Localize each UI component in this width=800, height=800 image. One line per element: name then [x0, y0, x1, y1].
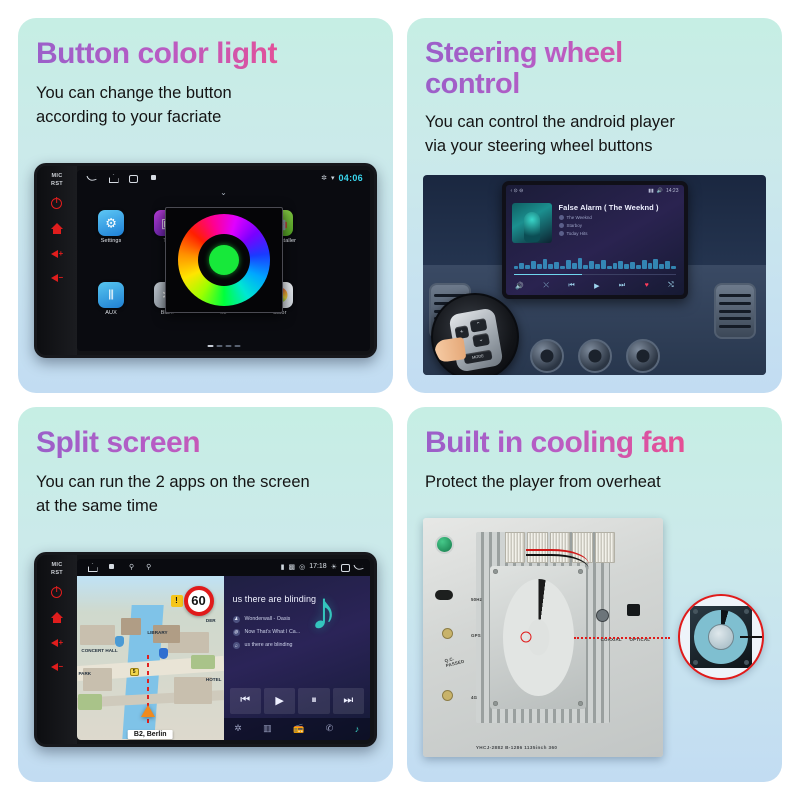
fan-mount-plate — [490, 566, 586, 709]
navigation-icons — [87, 173, 159, 182]
artist-icon: ♟ — [233, 616, 240, 623]
app-spacer — [308, 263, 364, 335]
card-media: MIC RST + − — [34, 140, 377, 381]
gps-connector — [442, 628, 453, 639]
car-interior-photo: ‹ ⊙ ⊖ ▮▮ 🔊 14:23 False Alarm ( The Weekn… — [423, 175, 766, 375]
album-row: Starboy — [559, 223, 678, 228]
map-green-area — [78, 694, 101, 710]
volume-icon: 🔊 — [657, 188, 663, 194]
progress-bar[interactable] — [514, 274, 676, 276]
track-meta: ♟ Wonderwall - Oasis ◍ Now That's What I… — [233, 616, 301, 649]
fan-grill — [503, 579, 574, 696]
track-title: False Alarm ( The Weeknd ) — [559, 203, 678, 212]
artist-name: Wonderwall - Oasis — [245, 616, 291, 622]
card-title: Split screen — [36, 427, 377, 459]
color-wheel[interactable] — [178, 214, 270, 306]
cooling-fan — [690, 606, 752, 668]
clock: 14:23 — [666, 188, 679, 194]
card-media: 50Hz GPS Q.C. PASSED 4G COAXIAL OPTICAL — [423, 505, 766, 770]
play-icon[interactable]: ▶ — [264, 688, 295, 714]
phone-icon[interactable]: ✆ — [326, 723, 334, 734]
bezel-key-group: + − — [51, 198, 63, 283]
home-icon[interactable] — [108, 173, 117, 182]
optical-port — [627, 604, 640, 616]
down-button[interactable]: ⌄ — [472, 333, 490, 348]
playlist-row: ♫ us there are blinding — [233, 642, 301, 649]
track-meta: False Alarm ( The Weeknd ) The Weeknd St… — [559, 203, 678, 243]
split-screen-container: CONCERT HALL LIBRARY PARK HOTEL DER 5 ! — [77, 576, 370, 740]
playlist-row: Today Hits — [559, 231, 678, 236]
signal-icon: ▮▮ — [648, 188, 654, 194]
radio-icon[interactable]: 📻 — [293, 723, 304, 734]
fan-knob[interactable] — [530, 339, 564, 373]
map-label-concert-hall: CONCERT HALL — [81, 648, 117, 653]
speed-limit-sign: 60 — [184, 586, 214, 616]
aux-icon: ⦀ — [108, 288, 114, 301]
air-vent-right — [714, 283, 756, 339]
next-icon[interactable]: ⏭ — [619, 282, 625, 290]
previous-icon[interactable]: ⏮ — [568, 282, 574, 290]
transport-controls: ⏮ ▶ ⏸ ⏭ — [230, 688, 365, 714]
signal-icon: ▮ — [281, 563, 285, 571]
bezel-key-group: + − — [51, 587, 63, 672]
home-icon[interactable] — [51, 223, 63, 235]
temperature-knob[interactable] — [578, 339, 612, 373]
lte-connector — [442, 690, 453, 701]
pcb-label-4g: 4G — [471, 695, 477, 700]
equalizer-icon[interactable]: ▥ — [263, 723, 272, 734]
card-subtitle: You can run the 2 apps on the screen at … — [36, 471, 377, 519]
pcb-label-50hz: 50Hz — [471, 597, 482, 602]
chevron-down-icon[interactable]: ⌄ — [220, 188, 227, 197]
volume-icon[interactable]: 🔊 — [515, 282, 524, 290]
callout-connector-line — [574, 637, 670, 639]
apps-icon[interactable] — [108, 562, 117, 571]
feature-card-button-color-light: Button color light You can change the bu… — [18, 18, 393, 393]
map-label-der: DER — [206, 618, 216, 623]
card-media: MIC RST + − ⚲ ⚲ — [34, 529, 377, 770]
power-icon[interactable] — [51, 587, 63, 599]
home-icon[interactable] — [87, 562, 96, 571]
playlist-icon — [559, 231, 564, 236]
pause-icon[interactable]: ⏸ — [298, 688, 329, 714]
playlist-name: us there are blinding — [245, 642, 293, 648]
status-indicators: ✲ ▾ 04:06 — [321, 173, 363, 183]
brightness-icon[interactable]: ☀ — [331, 563, 337, 571]
callout-origin-marker — [521, 632, 532, 643]
map-label-library: LIBRARY — [147, 630, 167, 635]
volume-down-icon[interactable]: − — [51, 272, 63, 283]
route-badge: 5 — [130, 668, 139, 676]
artist-name: The Weeknd — [567, 215, 592, 220]
music-player-pane[interactable]: ♪ us there are blinding ♟ Wonderwall - O… — [224, 576, 371, 740]
head-unit-screen: ⚲ ⚲ ▮ ▩ ◎ 17:18 ☀ — [77, 559, 370, 740]
location-icon[interactable]: ⚲ — [129, 563, 134, 571]
artist-row: The Weeknd — [559, 215, 678, 220]
artist-icon — [559, 215, 564, 220]
mode-knob[interactable] — [626, 339, 660, 373]
feature-card-steering-wheel-control: Steering wheel control You can control t… — [407, 18, 782, 393]
audio-waveform — [514, 257, 676, 269]
feature-card-built-in-cooling-fan: Built in cooling fan Protect the player … — [407, 407, 782, 782]
feature-card-split-screen: Split screen You can run the 2 apps on t… — [18, 407, 393, 782]
map-building — [121, 618, 142, 634]
device-bezel: MIC RST + − — [37, 166, 77, 355]
clock: 04:06 — [338, 173, 363, 183]
next-icon[interactable]: ⏭ — [333, 688, 364, 714]
navigation-map-pane[interactable]: CONCERT HALL LIBRARY PARK HOTEL DER 5 ! — [77, 576, 224, 740]
location-icon[interactable]: ⚲ — [146, 563, 151, 571]
status-bar: ⚲ ⚲ ▮ ▩ ◎ 17:18 ☀ — [77, 559, 370, 575]
bluetooth-icon: ✲ — [321, 174, 327, 182]
gps-icon: ◎ — [299, 563, 305, 571]
head-unit-device: MIC RST + − — [34, 163, 377, 358]
card-subtitle: Protect the player from overheat — [425, 471, 766, 495]
antenna-jack-green — [435, 535, 454, 554]
bluetooth-icon[interactable]: ✲ — [234, 723, 242, 734]
card-title: Button color light — [36, 38, 377, 70]
source-tab-bar: ✲ ▥ 📻 ✆ ♪ — [224, 718, 371, 740]
volume-up-icon[interactable]: + — [51, 248, 63, 259]
page-indicator — [207, 345, 240, 347]
map-label-hotel: HOTEL — [206, 677, 222, 682]
home-icon[interactable] — [51, 612, 63, 624]
status-bar: ✲ ▾ 04:06 — [77, 170, 370, 186]
card-subtitle: You can control the android player via y… — [425, 111, 766, 159]
apps-icon[interactable] — [150, 173, 159, 182]
serial-number: YHCJ-2882 B-1286 1135inch 360 — [476, 745, 558, 750]
previous-icon[interactable]: ⏮ — [230, 688, 261, 714]
volume-up-icon[interactable]: + — [51, 637, 63, 648]
head-unit-device: MIC RST + − ⚲ ⚲ — [34, 552, 377, 747]
repeat-icon[interactable]: ⤭ — [668, 282, 674, 290]
map-green-area — [191, 655, 214, 670]
playlist-name: Today Hits — [567, 231, 588, 236]
hvac-controls — [530, 339, 660, 373]
card-title: Steering wheel control — [425, 38, 766, 99]
color-wheel-dialog[interactable] — [165, 207, 283, 313]
bezel-label-mic: MIC — [52, 561, 63, 570]
card-title: Built in cooling fan — [425, 427, 766, 459]
player-body: False Alarm ( The Weeknd ) The Weeknd St… — [506, 196, 684, 243]
status-indicators: ▮ ▩ ◎ 17:18 ☀ — [281, 562, 363, 571]
player-status-bar: ‹ ⊙ ⊖ ▮▮ 🔊 14:23 — [506, 185, 684, 196]
fan-closeup-callout — [678, 594, 764, 680]
coaxial-port — [596, 609, 609, 622]
favorite-icon[interactable]: ♥ — [645, 282, 649, 289]
warning-icon: ! — [171, 595, 183, 607]
antenna-connector — [435, 590, 453, 600]
album-icon: ◍ — [233, 629, 240, 636]
app-settings[interactable]: ⚙ Settings — [83, 191, 139, 263]
artist-row: ♟ Wonderwall - Oasis — [233, 616, 301, 623]
playlist-icon: ♫ — [233, 642, 240, 649]
map-label-park: PARK — [78, 671, 91, 676]
sim-icon: ▩ — [288, 563, 295, 571]
bezel-label-rst: RST — [51, 180, 63, 189]
volume-down-icon[interactable]: − — [51, 661, 63, 672]
back-icon[interactable] — [87, 173, 96, 182]
album-icon — [559, 223, 564, 228]
album-row: ◍ Now That's What I Ca... — [233, 629, 301, 636]
recents-icon[interactable] — [129, 173, 138, 182]
pcb-label-qc-passed: Q.C. PASSED — [444, 654, 465, 668]
up-button[interactable]: ⌃ — [470, 318, 488, 333]
card-media: ‹ ⊙ ⊖ ▮▮ 🔊 14:23 False Alarm ( The Weekn… — [423, 169, 766, 381]
music-icon[interactable]: ♪ — [355, 724, 360, 734]
fan-lead-wire — [740, 636, 762, 638]
app-label: Settings — [101, 238, 122, 244]
player-controls: 🔊 ⤬ ⏮ ▶ ⏭ ♥ ⤭ — [506, 278, 684, 293]
back-icon[interactable] — [354, 562, 363, 571]
player-nav-icons: ‹ ⊙ ⊖ — [511, 188, 524, 194]
clock: 17:18 — [309, 563, 327, 570]
pcb-label-gps: GPS — [471, 633, 481, 638]
device-bezel: MIC RST + − — [37, 555, 77, 744]
head-unit-screen: ✲ ▾ 04:06 ⌄ ⚙ Settings ▣ T... — [77, 170, 370, 351]
navigation-icons: ⚲ ⚲ — [87, 562, 151, 571]
vehicle-position-arrow — [141, 705, 155, 717]
feature-grid: Button color light You can change the bu… — [0, 0, 800, 800]
current-street-label: B2, Berlin — [128, 730, 173, 739]
bezel-label-rst: RST — [51, 569, 63, 578]
map-block — [80, 625, 115, 645]
head-unit-screen: ‹ ⊙ ⊖ ▮▮ 🔊 14:23 False Alarm ( The Weekn… — [502, 181, 688, 299]
settings-car-icon: ⚙ — [105, 216, 117, 229]
app-aux[interactable]: ⦀ AUX — [83, 263, 139, 335]
album-art — [512, 203, 552, 243]
track-title: us there are blinding — [233, 594, 329, 604]
card-subtitle: You can change the button according to y… — [36, 82, 377, 130]
app-spacer — [308, 191, 364, 263]
music-player: ‹ ⊙ ⊖ ▮▮ 🔊 14:23 False Alarm ( The Weekn… — [506, 185, 684, 295]
map-poi-marker[interactable] — [115, 636, 124, 647]
power-icon[interactable] — [51, 198, 63, 210]
app-label: AUX — [105, 310, 117, 316]
recents-icon[interactable] — [341, 562, 350, 571]
shuffle-icon[interactable]: ⤬ — [543, 282, 549, 290]
wifi-icon: ▾ — [331, 174, 335, 182]
album-name: Now That's What I Ca... — [245, 629, 301, 635]
map-poi-marker[interactable] — [159, 648, 168, 659]
finger — [434, 337, 467, 363]
mode-button[interactable]: MODE — [463, 350, 492, 365]
play-icon[interactable]: ▶ — [594, 282, 599, 290]
album-name: Starboy — [567, 223, 583, 228]
bezel-label-mic: MIC — [52, 172, 63, 181]
cooling-fan-photo: 50Hz GPS Q.C. PASSED 4G COAXIAL OPTICAL — [423, 505, 766, 770]
player-status-right: ▮▮ 🔊 14:23 — [648, 188, 678, 194]
steering-wheel: + ⌃ ⌄ MODE — [431, 293, 519, 375]
